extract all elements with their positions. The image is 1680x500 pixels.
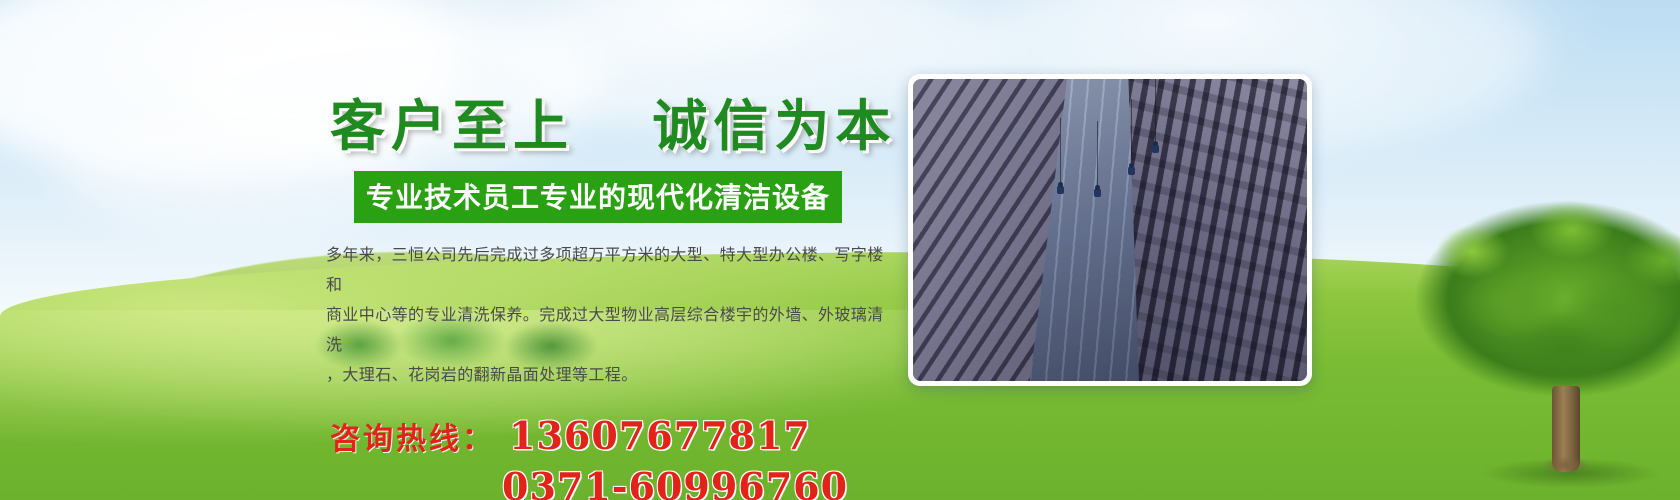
rope-access-worker: [1151, 141, 1160, 156]
rope-access-worker: [1127, 163, 1136, 178]
rope-access-worker: [1056, 182, 1065, 197]
building-photo: [913, 79, 1307, 381]
hotline-mobile-number[interactable]: 13607677817: [509, 413, 811, 458]
tree-illustration: [1400, 200, 1680, 500]
description-line: 商业中心等的专业清洗保养。完成过大型物业高层综合楼宇的外墙、外玻璃清洗: [326, 301, 888, 361]
worker-rope: [1097, 121, 1098, 187]
text-content-block: 客户至上 诚信为本 专业技术员工专业的现代化清洁设备 多年来，三恒公司先后完成过…: [326, 96, 906, 500]
tree-canopy: [1400, 200, 1680, 415]
rope-access-worker: [1093, 185, 1102, 200]
description-paragraph: 多年来，三恒公司先后完成过多项超万平方米的大型、特大型办公楼、写字楼和 商业中心…: [326, 241, 888, 391]
worker-rope: [1060, 118, 1061, 184]
worker-rope: [1131, 99, 1132, 165]
description-line: ，大理石、花岗岩的翻新晶面处理等工程。: [326, 361, 888, 391]
page-title: 客户至上 诚信为本: [330, 96, 906, 157]
building-photo-frame: [908, 74, 1312, 386]
hotline-block: 咨询热线：13607677817 0371-60996760: [330, 413, 906, 500]
headline-part-two: 诚信为本: [652, 93, 896, 158]
tagline-badge: 专业技术员工专业的现代化清洁设备: [354, 171, 842, 223]
hotline-landline-number[interactable]: 0371-60996760: [502, 464, 906, 500]
hotline-label: 咨询热线：: [330, 422, 495, 457]
tree-trunk: [1552, 386, 1580, 472]
promo-banner: 客户至上 诚信为本 专业技术员工专业的现代化清洁设备 多年来，三恒公司先后完成过…: [0, 0, 1680, 500]
description-line: 多年来，三恒公司先后完成过多项超万平方米的大型、特大型办公楼、写字楼和: [326, 241, 888, 301]
headline-part-one: 客户至上: [330, 93, 574, 158]
worker-rope: [1155, 79, 1156, 143]
